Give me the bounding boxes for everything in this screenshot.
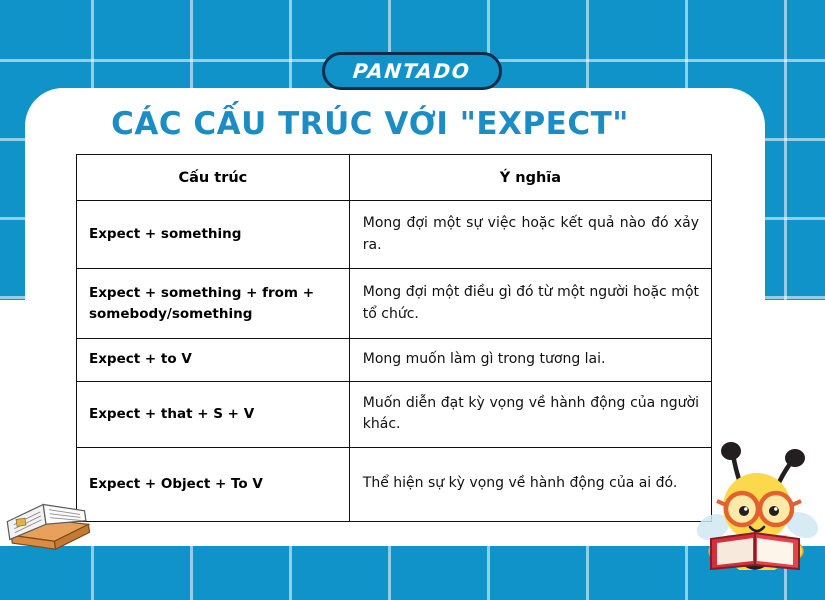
cell-meaning: Mong đợi một sự việc hoặc kết quả nào đó…: [349, 201, 711, 269]
brand-logo-pill[interactable]: PANTADO: [322, 52, 502, 90]
table-row: Expect + to V Mong muốn làm gì trong tươ…: [77, 339, 712, 382]
cell-meaning: Mong muốn làm gì trong tương lai.: [349, 339, 711, 382]
cell-structure: Expect + that + S + V: [77, 381, 350, 447]
open-book-stack-icon: [2, 490, 94, 552]
table-body: Expect + something Mong đợi một sự việc …: [77, 201, 712, 522]
cell-structure: Expect + something: [77, 201, 350, 269]
cell-structure: Expect + to V: [77, 339, 350, 382]
column-header-structure: Cấu trúc: [77, 155, 350, 201]
cell-meaning: Mong đợi một điều gì đó từ một người hoặ…: [349, 269, 711, 339]
table-row: Expect + something Mong đợi một sự việc …: [77, 201, 712, 269]
page-title: CÁC CẤU TRÚC VỚI "EXPECT": [0, 106, 740, 142]
bee-reading-book-icon: [691, 435, 819, 570]
cell-meaning: Muốn diễn đạt kỳ vọng về hành động của n…: [349, 381, 711, 447]
cell-structure: Expect + something + from + somebody/som…: [77, 269, 350, 339]
expect-structures-table: Cấu trúc Ý nghĩa Expect + something Mong…: [76, 154, 712, 522]
table-row: Expect + something + from + somebody/som…: [77, 269, 712, 339]
table-row: Expect + Object + To V Thể hiện sự kỳ vọ…: [77, 447, 712, 521]
table-header-row: Cấu trúc Ý nghĩa: [77, 155, 712, 201]
cell-meaning: Thể hiện sự kỳ vọng về hành động của ai …: [349, 447, 711, 521]
table-header: Cấu trúc Ý nghĩa: [77, 155, 712, 201]
column-header-meaning: Ý nghĩa: [349, 155, 711, 201]
cell-structure: Expect + Object + To V: [77, 447, 350, 521]
table-row: Expect + that + S + V Muốn diễn đạt kỳ v…: [77, 381, 712, 447]
brand-logo-text: PANTADO: [352, 59, 472, 83]
